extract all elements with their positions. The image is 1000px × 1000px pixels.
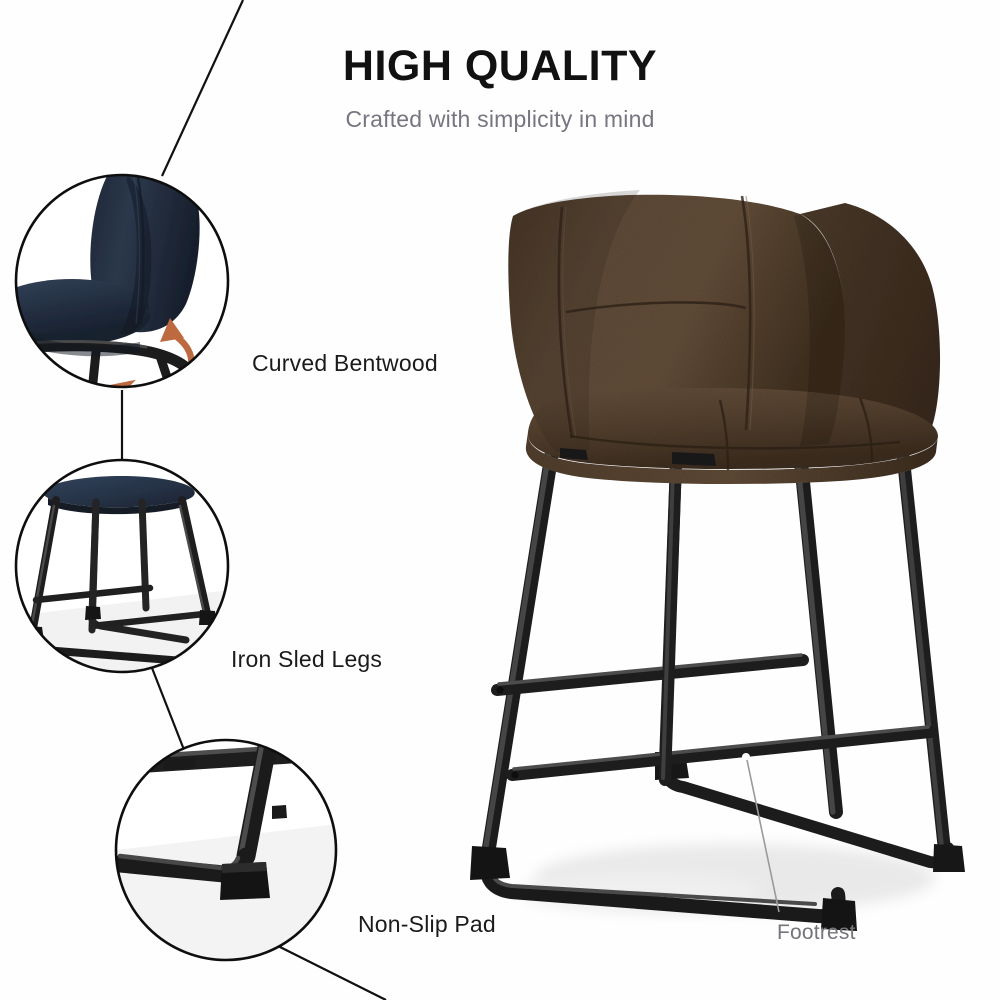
stool-upholstery — [508, 190, 940, 484]
frame-rear-right-upright — [903, 455, 945, 855]
detail-circle-iron-sled-legs — [14, 458, 230, 674]
connector-circle2-to-circle3 — [152, 668, 188, 760]
product-illustration — [0, 0, 1000, 1000]
c2-foot-rear — [85, 606, 101, 620]
joint-stud-left-upper — [496, 686, 503, 693]
c3-notch-side — [272, 805, 287, 819]
footrest-bar-lower — [512, 732, 930, 775]
frame-front-left-upright — [487, 452, 552, 860]
frame-rear-right-foot — [933, 844, 965, 872]
frame-front-left-foot — [470, 846, 510, 880]
feature-label-iron-sled-legs: Iron Sled Legs — [231, 646, 382, 673]
footrest-leader-dot — [742, 753, 750, 761]
page-title: HIGH QUALITY — [0, 44, 1000, 89]
main-product-stool — [470, 190, 965, 931]
joint-stud-left-lower — [511, 771, 518, 778]
page-subtitle: Crafted with simplicity in mind — [0, 106, 1000, 133]
c3-notch-top — [164, 758, 195, 770]
feature-label-footrest: Footrest — [777, 921, 856, 945]
feature-label-non-slip-pad: Non-Slip Pad — [358, 911, 496, 938]
footrest-bar-upper — [497, 660, 803, 690]
arrow-head-lower — [90, 384, 112, 408]
infographic-canvas: HIGH QUALITY Crafted with simplicity in … — [0, 0, 1000, 1000]
feature-label-curved-bentwood: Curved Bentwood — [252, 350, 438, 377]
frame-front-right-upright — [800, 452, 836, 812]
detail-circle-non-slip-pad — [116, 740, 338, 962]
header-block: HIGH QUALITY Crafted with simplicity in … — [0, 44, 1000, 133]
connector-circle3-to-offscreen — [266, 940, 386, 1000]
detail-circle-curved-bentwood — [8, 160, 230, 408]
